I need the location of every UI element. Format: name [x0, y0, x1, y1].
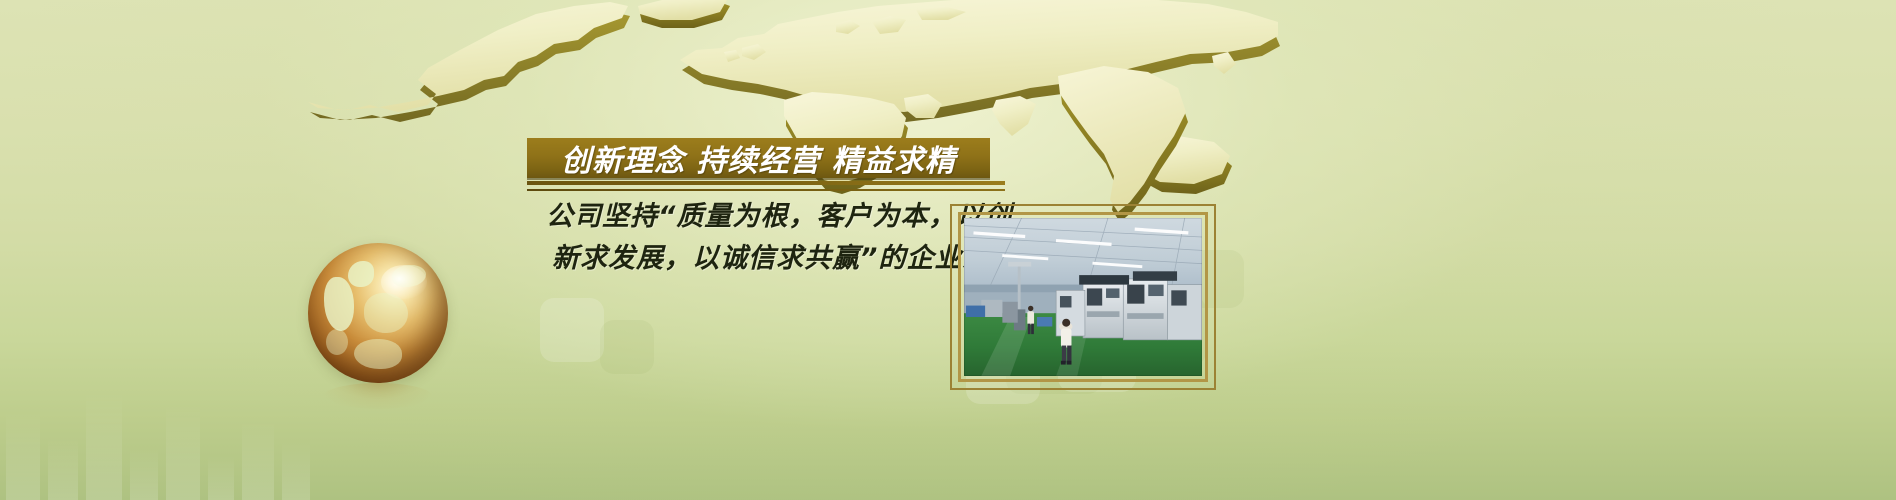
globe-graphic — [308, 243, 454, 408]
background-bars — [0, 350, 430, 500]
banner-title: 创新理念 持续经营 精益求精 — [561, 138, 956, 178]
globe-3d-icon — [308, 243, 448, 383]
divider-line-bottom — [527, 189, 1005, 191]
photo-frame — [950, 204, 1216, 390]
photo-frame-inner — [958, 212, 1208, 382]
divider-line-top — [527, 181, 1005, 185]
globe-reflection — [324, 383, 432, 409]
subtitle-line-1: 公司坚持“质量为根，客户为本，以创 — [546, 201, 1012, 232]
factory-workshop-photo — [964, 218, 1202, 376]
title-band: 创新理念 持续经营 精益求精 — [527, 138, 990, 178]
company-banner: 创新理念 持续经营 精益求精 公司坚持“质量为根，客户为本，以创 新求发展，以诚… — [0, 0, 1896, 500]
